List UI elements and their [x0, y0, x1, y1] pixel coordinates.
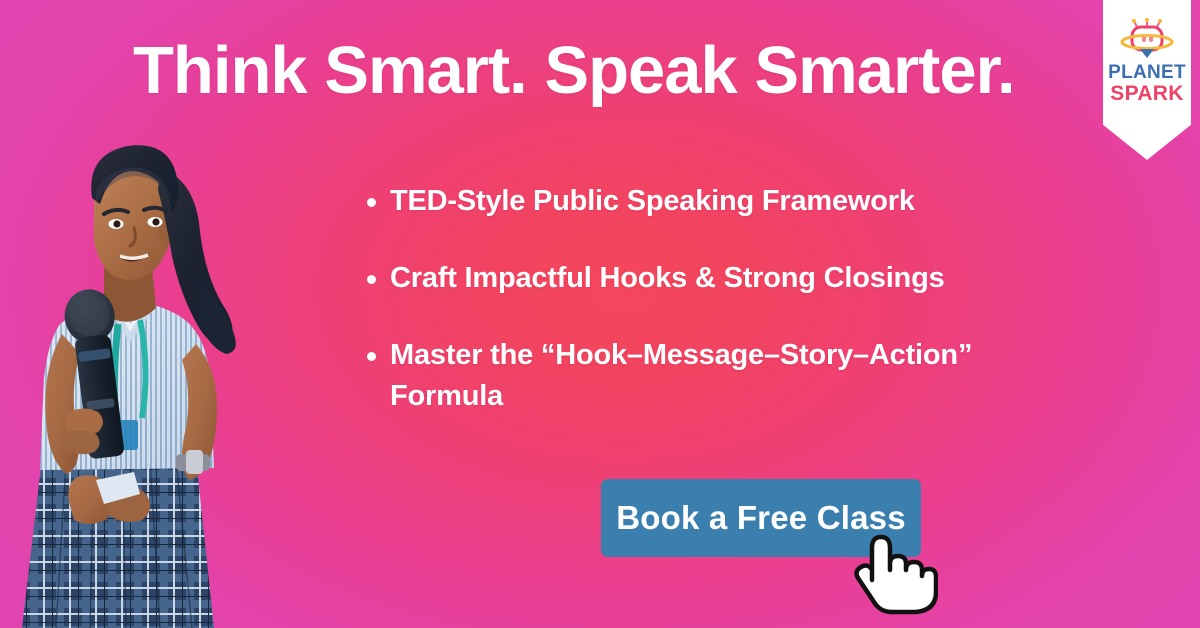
page-title: Think Smart. Speak Smarter. — [133, 34, 1053, 108]
bullet-dot-icon — [367, 275, 376, 284]
planetspark-robot-icon — [1119, 18, 1175, 60]
bullet-dot-icon — [367, 352, 376, 361]
list-item-label: TED-Style Public Speaking Framework — [390, 185, 915, 217]
brand-wordmark: PLANET SPARK — [1103, 62, 1191, 104]
brand-word-spark: SPARK — [1103, 83, 1191, 104]
list-item: TED-Style Public Speaking Framework — [362, 181, 1082, 222]
brand-ribbon: PLANET SPARK — [1103, 0, 1191, 160]
book-free-class-button[interactable]: Book a Free Class — [601, 479, 921, 557]
bullet-dot-icon — [367, 198, 376, 207]
promo-banner: Think Smart. Speak Smarter. TED-Style Pu… — [0, 0, 1200, 628]
list-item: Master the “Hook–Message–Story–Action” F… — [362, 335, 1082, 417]
student-with-microphone-photo — [0, 128, 300, 628]
brand-word-planet: PLANET — [1103, 62, 1191, 83]
feature-list: TED-Style Public Speaking Framework Craf… — [362, 181, 1082, 417]
list-item: Craft Impactful Hooks & Strong Closings — [362, 258, 1082, 299]
list-item-label: Master the “Hook–Message–Story–Action” F… — [390, 339, 972, 412]
list-item-label: Craft Impactful Hooks & Strong Closings — [390, 262, 945, 294]
